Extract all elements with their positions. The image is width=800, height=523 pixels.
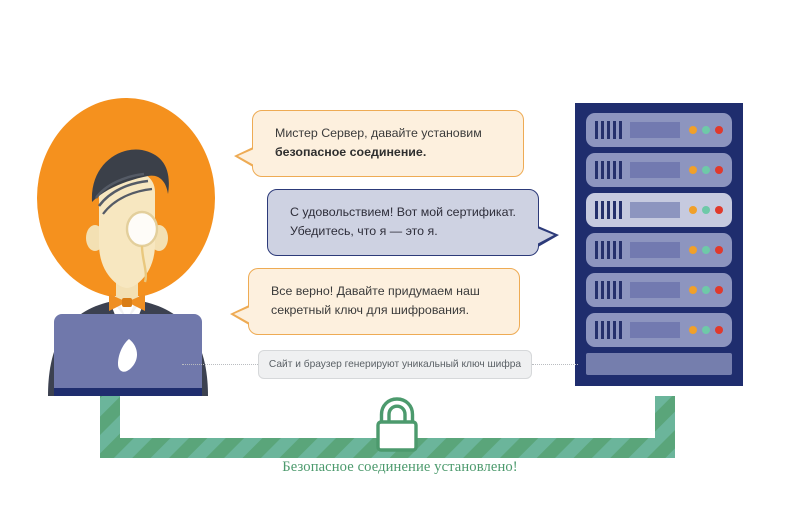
server-unit <box>586 273 732 307</box>
gentleman-illustration <box>32 96 242 396</box>
server-unit <box>586 153 732 187</box>
bubble-line-2: секретный ключ для шифрования. <box>271 301 501 320</box>
status-leds <box>689 326 723 334</box>
vent-bars-icon <box>595 121 622 139</box>
rack-base-panel <box>586 353 732 375</box>
server-unit <box>586 233 732 267</box>
vent-bars-icon <box>595 281 622 299</box>
bubble-line-2: безопасное соединение. <box>275 143 505 162</box>
speech-bubble-browser-key: Все верно! Давайте придумаем наш секретн… <box>248 268 520 335</box>
connection-line-right <box>532 364 578 365</box>
vent-bars-icon <box>595 201 622 219</box>
drive-slot <box>630 162 680 178</box>
drive-slot <box>630 322 680 338</box>
server-unit <box>586 113 732 147</box>
vent-bars-icon <box>595 321 622 339</box>
bubble-tail-fill-icon <box>238 149 254 165</box>
bubble-line-1: Все верно! Давайте придумаем наш <box>271 282 501 301</box>
drive-slot <box>630 122 680 138</box>
speech-bubble-server-certificate: С удовольствием! Вот мой сертификат. Убе… <box>267 189 539 256</box>
status-leds <box>689 246 723 254</box>
infographic-canvas: Мистер Сервер, давайте установим безопас… <box>0 0 800 523</box>
speech-bubble-browser-hello: Мистер Сервер, давайте установим безопас… <box>252 110 524 177</box>
status-leds <box>689 286 723 294</box>
bubble-line-1: Мистер Сервер, давайте установим <box>275 124 505 143</box>
server-unit-active <box>586 193 732 227</box>
bubble-line-2: Убедитесь, что я — это я. <box>290 222 520 241</box>
vent-bars-icon <box>595 161 622 179</box>
browser-character <box>32 96 242 396</box>
key-generation-note: Сайт и браузер генерируют уникальный клю… <box>258 350 532 379</box>
drive-slot <box>630 202 680 218</box>
vent-bars-icon <box>595 241 622 259</box>
bubble-tail-fill-icon <box>537 228 554 244</box>
server-rack <box>575 103 743 386</box>
bubble-line-1: С удовольствием! Вот мой сертификат. <box>290 203 520 222</box>
drive-slot <box>630 242 680 258</box>
server-unit <box>586 313 732 347</box>
connection-line-left <box>182 364 258 365</box>
status-leds <box>689 166 723 174</box>
drive-slot <box>630 282 680 298</box>
status-leds <box>689 126 723 134</box>
padlock-icon <box>366 393 428 455</box>
caption-secure-connection: Безопасное соединение установлено! <box>0 459 800 476</box>
bubble-tail-fill-icon <box>234 307 250 323</box>
status-leds <box>689 206 723 214</box>
